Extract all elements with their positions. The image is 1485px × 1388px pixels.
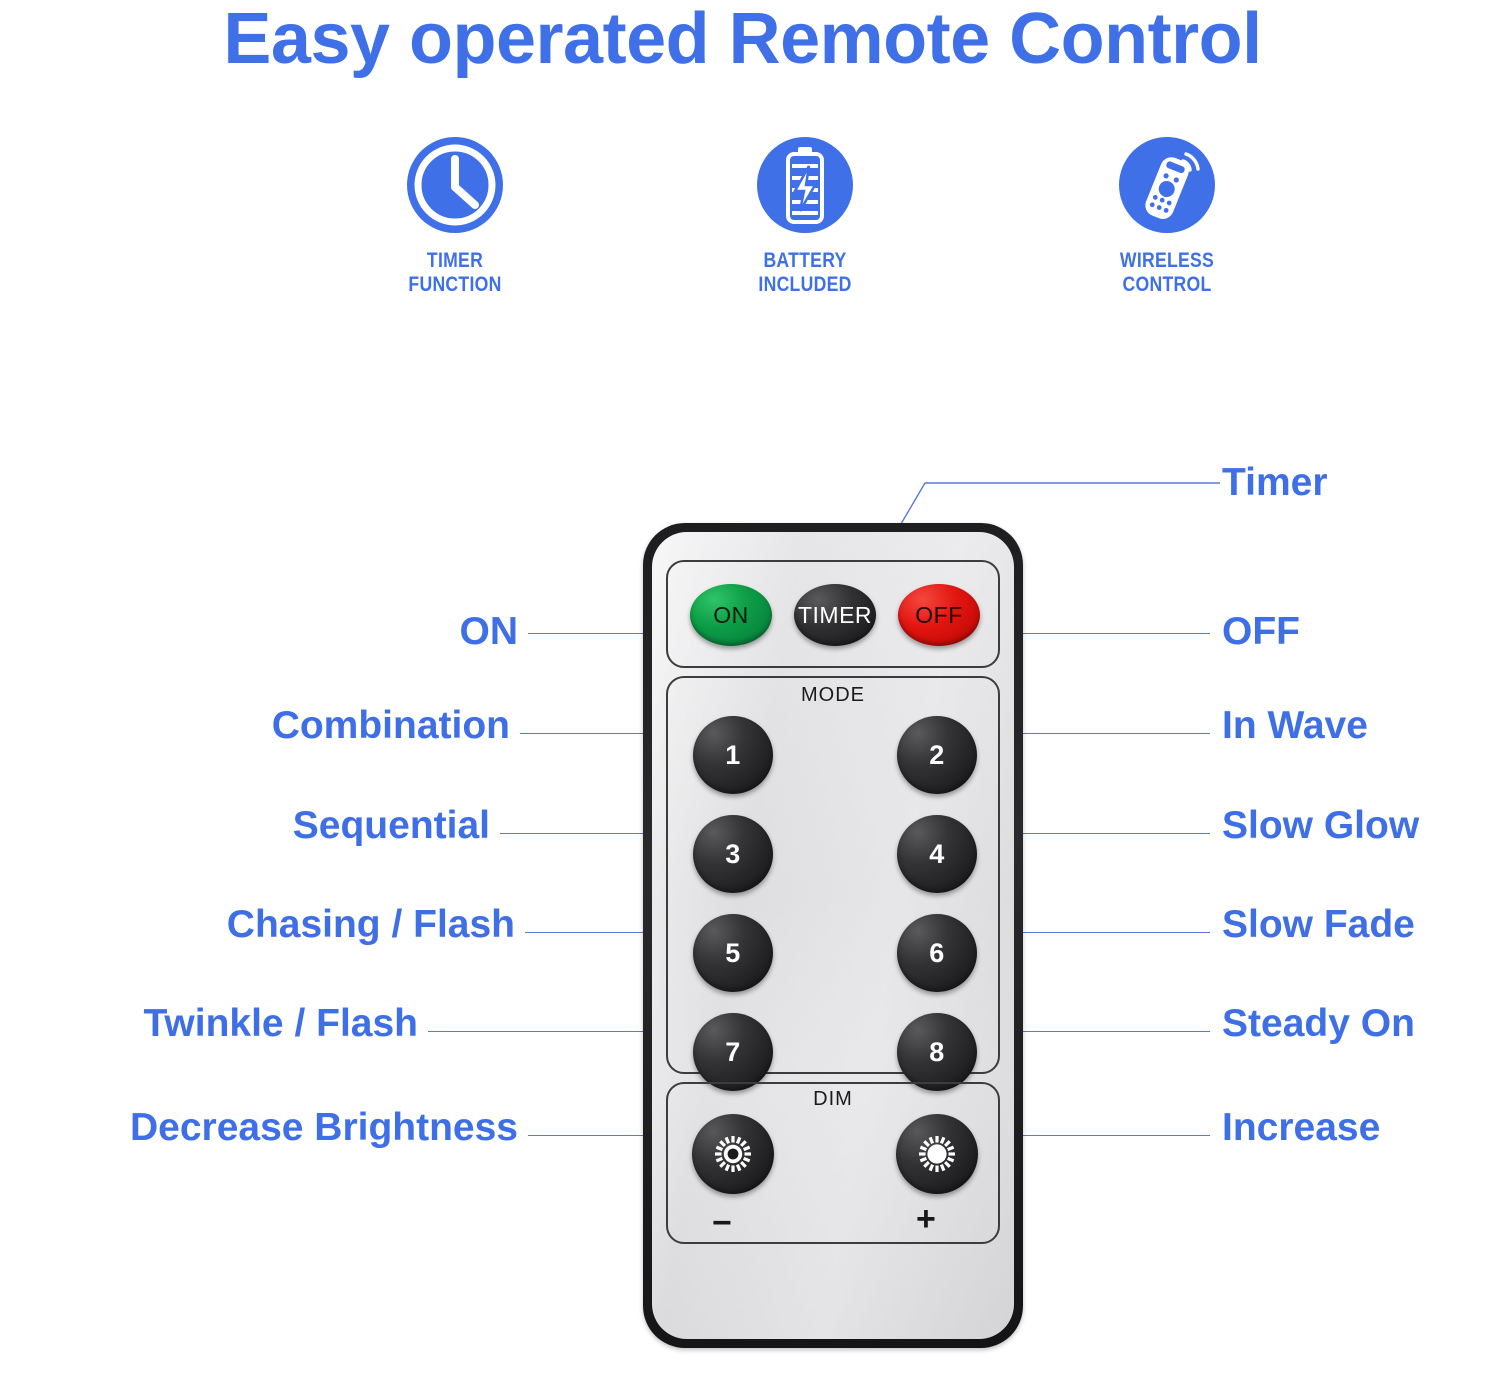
remote-control-device: ON TIMER OFF MODE 1 2 3 4 5 6 7 8 DIM bbox=[643, 523, 1023, 1348]
mode-button-4[interactable]: 4 bbox=[897, 815, 977, 893]
minus-symbol: − bbox=[712, 1206, 732, 1240]
mode-button-6[interactable]: 6 bbox=[897, 914, 977, 992]
off-button[interactable]: OFF bbox=[898, 584, 980, 646]
brightness-high-icon bbox=[917, 1134, 957, 1174]
feature-label-line1: BATTERY bbox=[700, 249, 910, 273]
brightness-low-icon bbox=[713, 1134, 753, 1174]
feature-timer-function: TIMER FUNCTION bbox=[330, 135, 580, 296]
feature-label-line1: TIMER bbox=[350, 249, 560, 273]
feature-label-line1: WIRELESS bbox=[1062, 249, 1272, 273]
callout-off: OFF bbox=[1222, 612, 1300, 651]
brightness-increase-button[interactable] bbox=[896, 1114, 978, 1194]
page-title: Easy operated Remote Control bbox=[0, 2, 1485, 78]
mode-button-8[interactable]: 8 bbox=[897, 1013, 977, 1091]
callout-decrease-brightness: Decrease Brightness bbox=[10, 1108, 518, 1147]
feature-wireless-control: WIRELESS CONTROL bbox=[1042, 135, 1292, 296]
plus-symbol: + bbox=[916, 1202, 936, 1236]
remote-faceplate: ON TIMER OFF MODE 1 2 3 4 5 6 7 8 DIM bbox=[652, 532, 1014, 1339]
timer-button[interactable]: TIMER bbox=[794, 584, 876, 646]
mode-button-1[interactable]: 1 bbox=[693, 716, 773, 794]
remote-icon bbox=[1117, 135, 1217, 235]
callout-increase: Increase bbox=[1222, 1108, 1380, 1147]
infographic-page: Easy operated Remote Control TIMER FUNCT… bbox=[0, 0, 1485, 1388]
feature-badges: TIMER FUNCTION BATTERY INCLUDED bbox=[300, 135, 1300, 320]
feature-label-line2: INCLUDED bbox=[700, 273, 910, 297]
mode-button-5[interactable]: 5 bbox=[693, 914, 773, 992]
callout-slow-fade: Slow Fade bbox=[1222, 905, 1415, 944]
clock-icon bbox=[405, 135, 505, 235]
callout-combination: Combination bbox=[150, 706, 510, 745]
feature-label-line2: CONTROL bbox=[1062, 273, 1272, 297]
callout-chasing-flash: Chasing / Flash bbox=[110, 905, 515, 944]
callout-steady-on: Steady On bbox=[1222, 1004, 1415, 1043]
callout-on: ON bbox=[368, 612, 518, 651]
dim-panel-label: DIM bbox=[668, 1088, 998, 1111]
mode-panel-label: MODE bbox=[668, 684, 998, 707]
on-button[interactable]: ON bbox=[690, 584, 772, 646]
callout-in-wave: In Wave bbox=[1222, 706, 1368, 745]
mode-button-7[interactable]: 7 bbox=[693, 1013, 773, 1091]
mode-button-2[interactable]: 2 bbox=[897, 716, 977, 794]
power-panel: ON TIMER OFF bbox=[666, 560, 1000, 668]
callout-sequential: Sequential bbox=[140, 806, 490, 845]
battery-icon bbox=[755, 135, 855, 235]
mode-panel: MODE 1 2 3 4 5 6 7 8 bbox=[666, 676, 1000, 1074]
callout-timer: Timer bbox=[1222, 463, 1328, 502]
callout-slow-glow: Slow Glow bbox=[1222, 806, 1419, 845]
dim-panel: DIM bbox=[666, 1082, 1000, 1244]
feature-label-line2: FUNCTION bbox=[350, 273, 560, 297]
callout-twinkle-flash: Twinkle / Flash bbox=[20, 1004, 418, 1043]
brightness-decrease-button[interactable] bbox=[692, 1114, 774, 1194]
mode-button-3[interactable]: 3 bbox=[693, 815, 773, 893]
feature-battery-included: BATTERY INCLUDED bbox=[680, 135, 930, 296]
